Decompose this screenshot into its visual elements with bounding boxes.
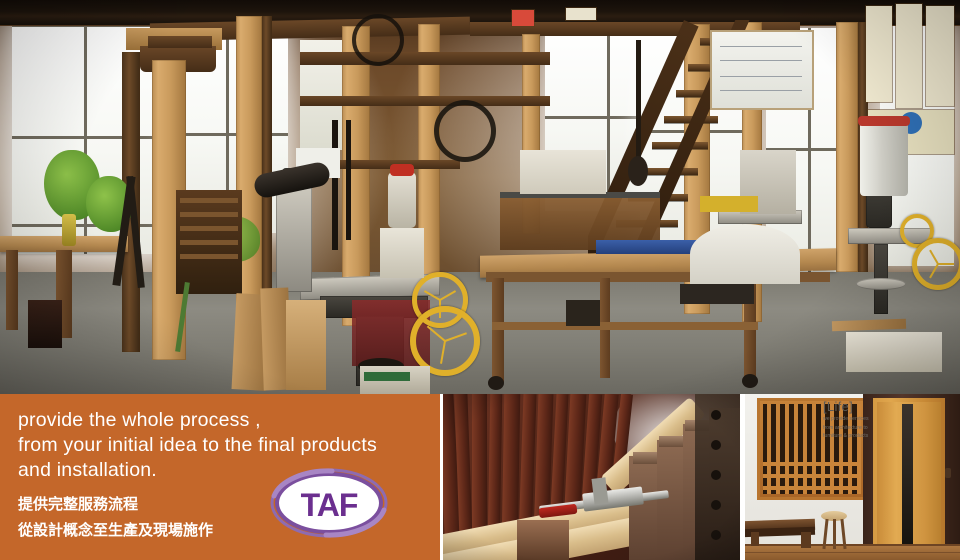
life-title: [Life] — [823, 400, 873, 414]
life-overlay: [Life] we provide services from architec… — [823, 400, 873, 440]
life-sub-1: we provide services — [823, 416, 873, 423]
headline-line-2: from your initial idea to the final prod… — [18, 433, 418, 458]
taf-logo: TAF — [270, 466, 388, 540]
taf-logo-text: TAF — [301, 487, 358, 523]
life-sub-3: furniture & products — [823, 433, 873, 440]
workshop-interior-photo — [0, 0, 960, 394]
bottom-strip: provide the whole process , from your in… — [0, 394, 960, 560]
headline-line-1: provide the whole process , — [18, 408, 418, 433]
laminating-jig-photo — [443, 394, 740, 560]
photo-vignette — [0, 0, 960, 394]
life-sub-2: from architecture to — [823, 425, 873, 432]
interior-life-photo: [Life] we provide services from architec… — [745, 394, 960, 560]
page-root: provide the whole process , from your in… — [0, 0, 960, 560]
